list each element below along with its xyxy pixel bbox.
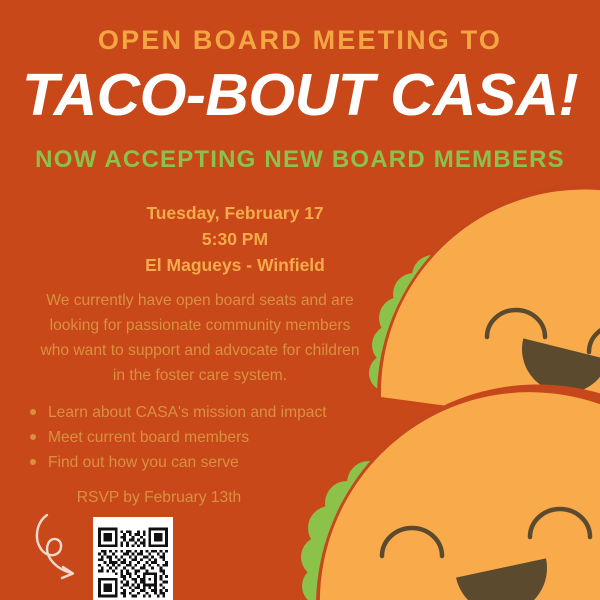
poster-canvas: OPEN BOARD MEETING TO TACO-BOUT CASA! NO…: [0, 0, 600, 600]
body-paragraph: We currently have open board seats and a…: [0, 288, 400, 388]
event-venue: El Magueys - Winfield: [0, 252, 470, 278]
list-item: Learn about CASA's mission and impact: [22, 400, 392, 425]
page-title: TACO-BOUT CASA!: [0, 66, 600, 125]
bullet-dot-icon: [30, 459, 36, 465]
qr-code[interactable]: [93, 517, 173, 600]
kicker-line: OPEN BOARD MEETING TO: [0, 27, 600, 54]
list-item-label: Meet current board members: [48, 429, 249, 446]
curly-arrow-icon: [30, 505, 100, 587]
event-details: Tuesday, February 17 5:30 PM El Magueys …: [0, 200, 470, 278]
body-line-2: looking for passionate community members: [0, 313, 400, 338]
bullet-dot-icon: [30, 434, 36, 440]
bullet-list: Learn about CASA's mission and impact Me…: [22, 400, 392, 475]
subheading: NOW ACCEPTING NEW BOARD MEMBERS: [0, 148, 600, 172]
event-time: 5:30 PM: [0, 226, 470, 252]
body-line-3: who want to support and advocate for chi…: [0, 338, 400, 363]
list-item-label: Find out how you can serve: [48, 454, 239, 471]
body-line-1: We currently have open board seats and a…: [0, 288, 400, 313]
bullet-dot-icon: [30, 409, 36, 415]
poster-content: OPEN BOARD MEETING TO TACO-BOUT CASA! NO…: [0, 0, 600, 600]
list-item: Find out how you can serve: [22, 450, 392, 475]
list-item: Meet current board members: [22, 425, 392, 450]
body-line-4: in the foster care system.: [0, 363, 400, 388]
list-item-label: Learn about CASA's mission and impact: [48, 404, 327, 421]
qr-code-matrix: [98, 522, 168, 600]
event-date: Tuesday, February 17: [0, 200, 470, 226]
